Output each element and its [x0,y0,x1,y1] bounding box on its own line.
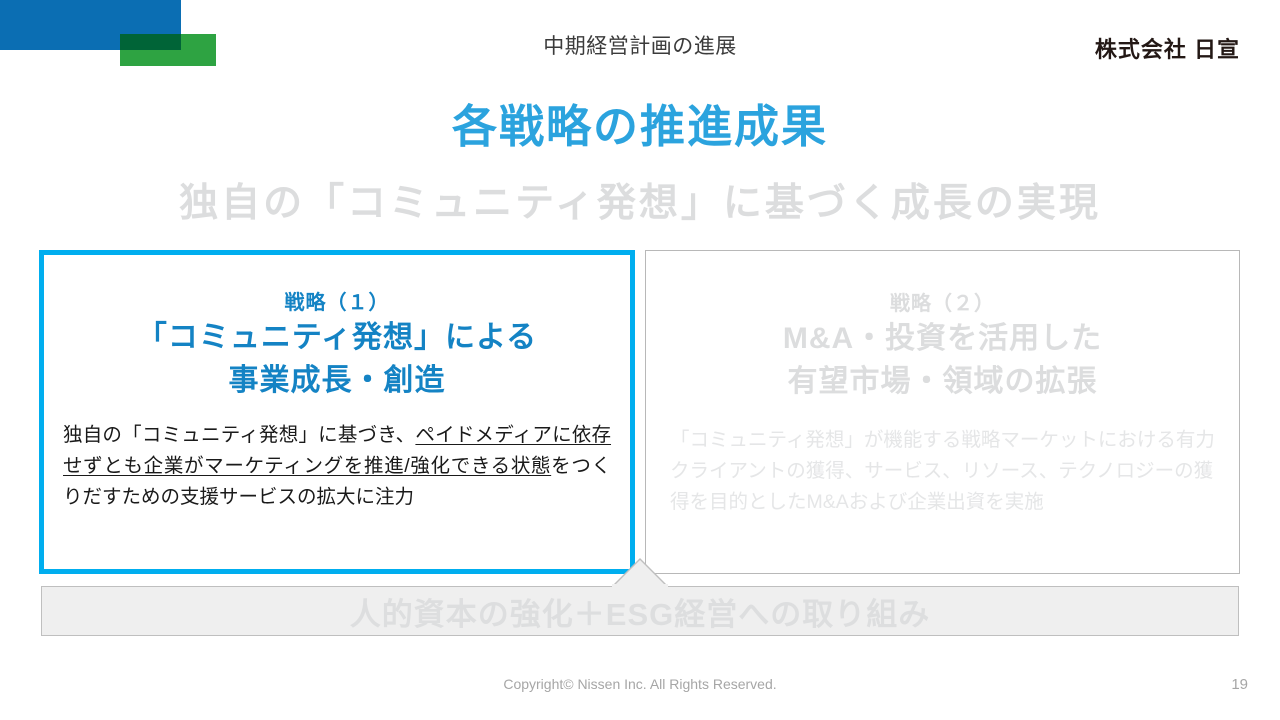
page-subtitle: 独自の「コミュニティ発想」に基づく成長の実現 [0,172,1280,228]
strategy-card-2-body: 「コミュニティ発想」が機能する戦略マーケットにおける有力クライアントの獲得、サー… [670,425,1215,517]
strategy-card-2-heading: M&A・投資を活用した 有望市場・領域の拡張 [646,318,1239,403]
foundation-banner[interactable] [41,586,1239,636]
strategy-card-2-heading-line1: M&A・投資を活用した [646,318,1239,361]
header-section-title: 中期経営計画の進展 [0,30,1280,60]
strategy-card-1[interactable]: 戦略（１） 「コミュニティ発想」による 事業成長・創造 独自の「コミュニティ発想… [39,250,635,574]
strategy-card-2-heading-line2: 有望市場・領域の拡張 [646,361,1239,404]
page-title: 各戦略の推進成果 [0,90,1280,155]
strategy-card-1-heading-line1: 「コミュニティ発想」による [44,317,630,360]
strategy-card-2-eyebrow: 戦略（２） [646,287,1239,316]
page-number: 19 [1231,676,1248,693]
strategy-card-2[interactable]: 戦略（２） M&A・投資を活用した 有望市場・領域の拡張 「コミュニティ発想」が… [645,250,1240,574]
footer-copyright: Copyright© Nissen Inc. All Rights Reserv… [0,676,1280,692]
strategy-card-1-body-part1: 独自の「コミュニティ発想」に基づき、 [63,424,415,446]
strategy-card-1-eyebrow: 戦略（１） [44,286,630,315]
company-logo-wordmark: 株式会社 日宣 [1095,32,1240,64]
banner-notch-seam-mask [612,584,668,588]
strategy-card-1-body: 独自の「コミュニティ発想」に基づき、ペイドメディアに依存せずとも企業がマーケティ… [63,420,611,512]
strategy-card-1-heading-line2: 事業成長・創造 [44,360,630,403]
strategy-card-1-heading: 「コミュニティ発想」による 事業成長・創造 [44,317,630,402]
